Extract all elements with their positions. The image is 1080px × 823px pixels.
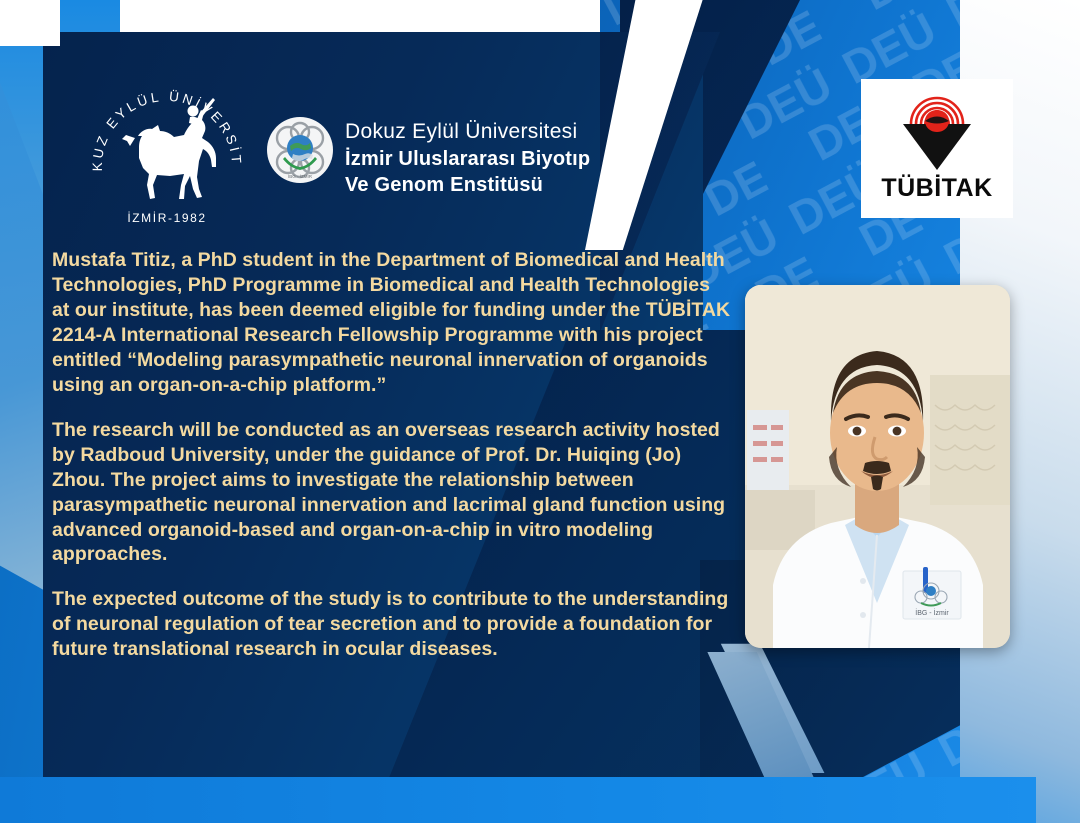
- announcement-poster: DEÜ DEÜ DOKUZ EYLÜL ÜNİVERSİTESİ: [0, 0, 1080, 823]
- ibg-institute-logo-icon: İBG - İZMİR: [266, 116, 334, 184]
- tubitak-mark-icon: [883, 94, 991, 172]
- institute-line-1: Dokuz Eylül Üniversitesi: [345, 118, 645, 146]
- institute-line-3: Ve Genom Enstitüsü: [345, 172, 645, 198]
- researcher-portrait-photo: İBG - İzmir: [745, 285, 1010, 648]
- paragraph-3: The expected outcome of the study is to …: [52, 587, 732, 662]
- svg-text:İBG - İZMİR: İBG - İZMİR: [288, 173, 313, 179]
- tubitak-logo-box: TÜBİTAK: [861, 79, 1013, 218]
- horse-rider-emblem: [122, 98, 216, 199]
- seal-bottom-text: İZMİR-1982: [127, 211, 206, 225]
- institute-name-block: Dokuz Eylül Üniversitesi İzmir Uluslarar…: [345, 118, 645, 199]
- bottom-blue-band: [0, 777, 1036, 823]
- lab-coat-badge-text: İBG - İzmir: [915, 608, 949, 617]
- dokuz-eylul-university-seal-icon: DOKUZ EYLÜL ÜNİVERSİTESİ İZMİR-1982: [86, 74, 248, 236]
- announcement-body: Mustafa Titiz, a PhD student in the Depa…: [52, 248, 732, 662]
- paragraph-1: Mustafa Titiz, a PhD student in the Depa…: [52, 248, 732, 398]
- paragraph-2: The research will be conducted as an ove…: [52, 418, 732, 568]
- top-left-white-notch: [0, 0, 60, 46]
- tubitak-wordmark: TÜBİTAK: [881, 174, 992, 203]
- institute-line-2: İzmir Uluslararası Biyotıp: [345, 146, 645, 172]
